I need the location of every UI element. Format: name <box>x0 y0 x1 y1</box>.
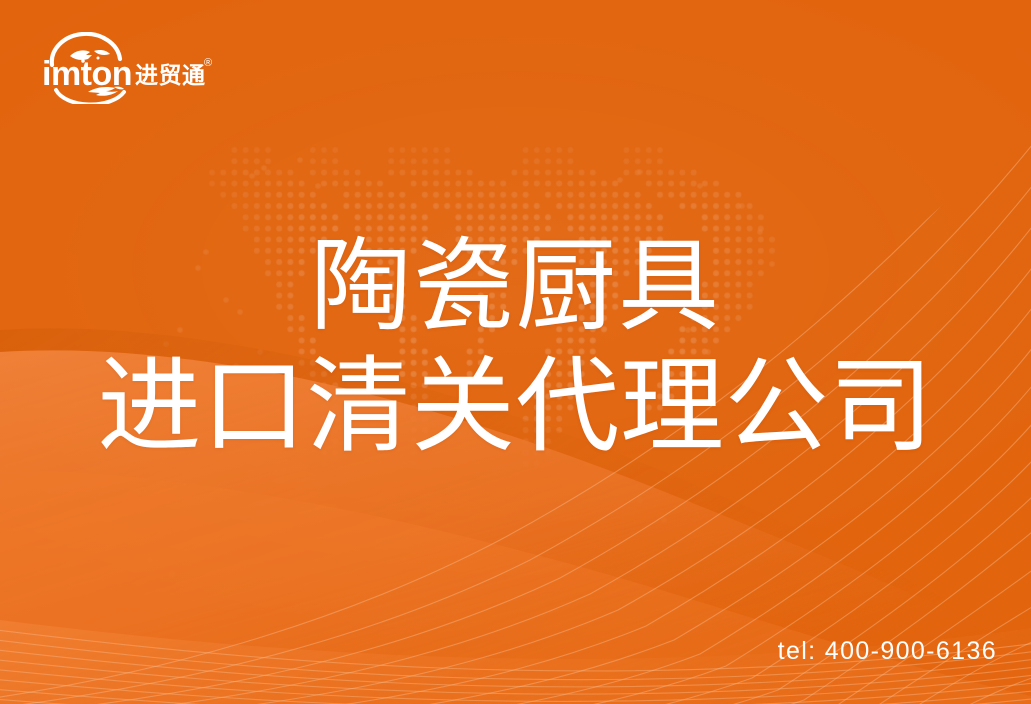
headline-line-2: 进口清关代理公司 <box>0 347 1031 468</box>
contact-phone[interactable]: tel: 400-900-6136 <box>778 637 997 666</box>
promotional-banner: imton 进贸通 ® 陶瓷厨具 进口清关代理公司 tel: 400-900-6… <box>0 0 1031 704</box>
company-logo[interactable]: imton 进贸通 ® <box>40 32 220 104</box>
logo-chinese-name: 进贸通 <box>135 63 206 89</box>
page-title: 陶瓷厨具 进口清关代理公司 <box>0 228 1031 468</box>
headline-line-1: 陶瓷厨具 <box>0 228 1031 347</box>
registered-trademark-icon: ® <box>204 57 212 69</box>
logo-svg: imton 进贸通 ® <box>40 32 220 104</box>
